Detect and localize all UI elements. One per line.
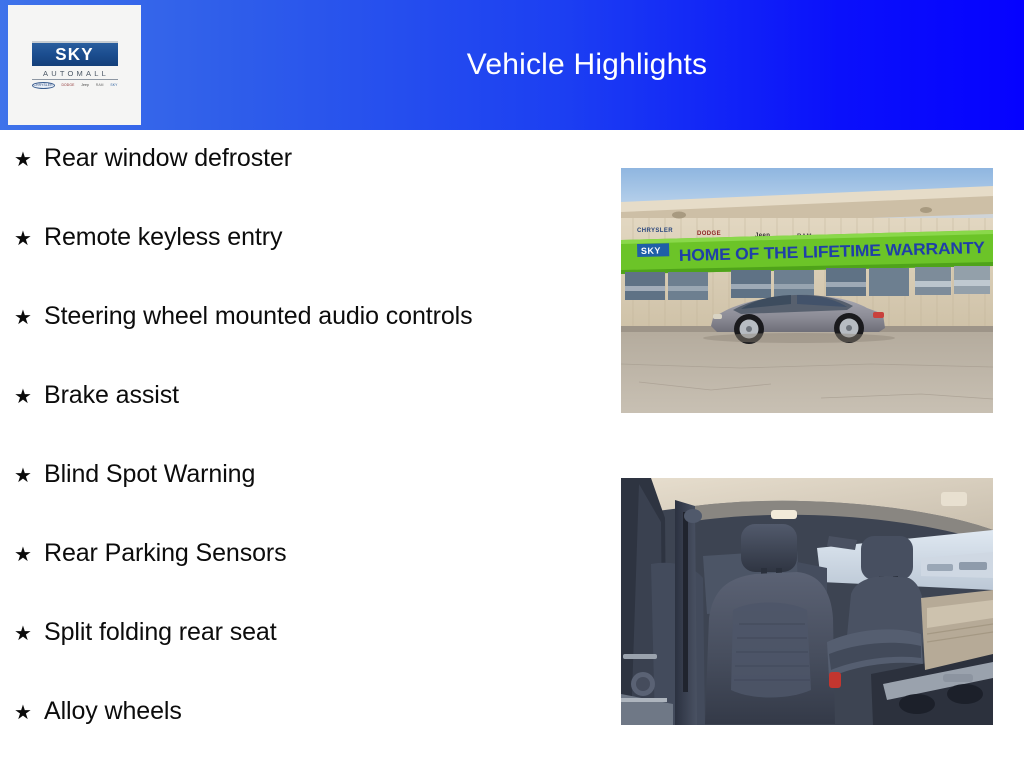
vehicle-interior-illustration — [621, 478, 993, 725]
feature-label: Steering wheel mounted audio controls — [44, 302, 473, 330]
star-icon: ★ — [10, 225, 44, 253]
dealership-exterior-illustration: CHRYSLER DODGE Jeep RAM SKY SKY HOME OF … — [621, 168, 993, 413]
star-icon: ★ — [10, 383, 44, 411]
feature-label: Rear Parking Sensors — [44, 539, 287, 567]
feature-label: Rear window defroster — [44, 144, 292, 172]
vehicle-highlights-list: ★ Rear window defroster ★ Remote keyless… — [10, 144, 610, 768]
logo-brand-strip: CHRYSLER DODGE Jeep RAM SKY — [32, 82, 118, 89]
list-item: ★ Rear window defroster — [10, 144, 610, 223]
feature-label: Blind Spot Warning — [44, 460, 255, 488]
brand-logo-ram: RAM — [96, 83, 104, 88]
star-icon: ★ — [10, 620, 44, 648]
logo-inner: SKY AUTOMALL CHRYSLER DODGE Jeep RAM SKY — [32, 41, 118, 89]
star-icon: ★ — [10, 304, 44, 332]
list-item: ★ Alloy wheels — [10, 697, 610, 768]
feature-label: Split folding rear seat — [44, 618, 277, 646]
logo-subtitle: AUTOMALL — [40, 69, 109, 78]
star-icon: ★ — [10, 146, 44, 174]
svg-text:DODGE: DODGE — [697, 231, 721, 237]
list-item: ★ Remote keyless entry — [10, 223, 610, 302]
feature-label: Remote keyless entry — [44, 223, 282, 251]
feature-label: Brake assist — [44, 381, 179, 409]
brand-logo-sky: SKY — [110, 83, 117, 88]
brand-logo-dodge: DODGE — [62, 83, 75, 88]
slide: Vehicle Highlights SKY AUTOMALL CHRYSLER… — [0, 0, 1024, 768]
logo-divider — [32, 79, 118, 80]
list-item: ★ Split folding rear seat — [10, 618, 610, 697]
svg-text:SKY: SKY — [641, 246, 661, 256]
list-item: ★ Rear Parking Sensors — [10, 539, 610, 618]
vehicle-interior-photo: Front seats and center console of the ve… — [621, 478, 993, 725]
dealership-exterior-photo: CHRYSLER DODGE Jeep RAM SKY SKY HOME OF … — [621, 168, 993, 413]
dealer-logo: SKY AUTOMALL CHRYSLER DODGE Jeep RAM SKY — [8, 5, 141, 125]
brand-logo-chrysler: CHRYSLER — [32, 82, 55, 89]
star-icon: ★ — [10, 541, 44, 569]
svg-text:CHRYSLER: CHRYSLER — [637, 228, 673, 234]
feature-label: Alloy wheels — [44, 697, 182, 725]
list-item: ★ Blind Spot Warning — [10, 460, 610, 539]
logo-plate: SKY — [32, 41, 118, 66]
list-item: ★ Steering wheel mounted audio controls — [10, 302, 610, 381]
brand-logo-jeep: Jeep — [81, 83, 89, 88]
logo-brand-name: SKY — [55, 44, 94, 65]
list-item: ★ Brake assist — [10, 381, 610, 460]
star-icon: ★ — [10, 462, 44, 490]
star-icon: ★ — [10, 699, 44, 727]
page-title: Vehicle Highlights — [150, 0, 1024, 130]
